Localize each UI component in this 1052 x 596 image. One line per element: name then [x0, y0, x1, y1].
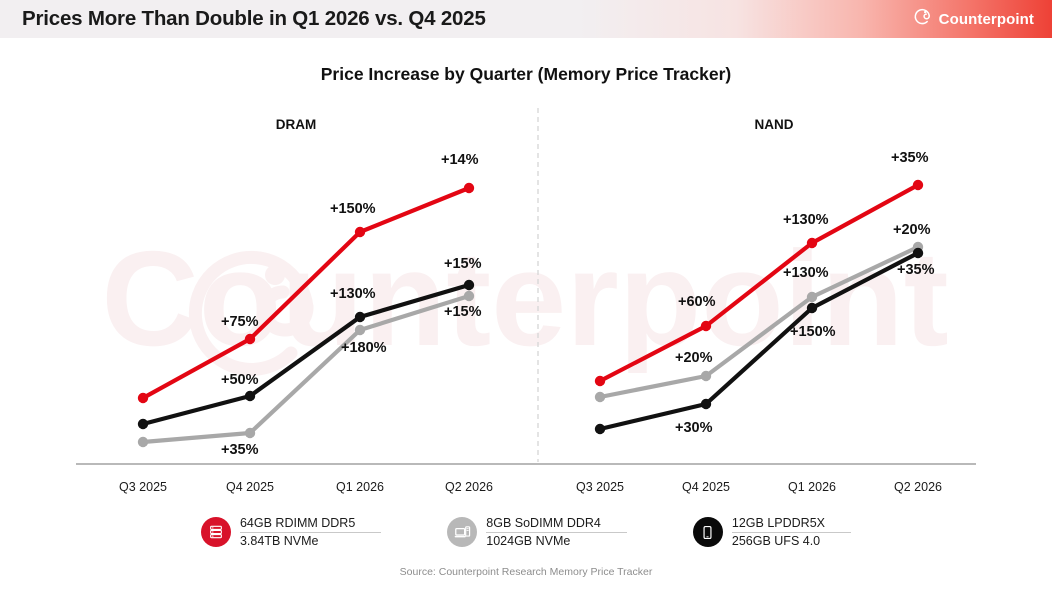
tick-dram-q1-2026: Q1 2026: [312, 480, 408, 494]
value-label-nand-black-q1: +150%: [790, 324, 836, 340]
legend-item-lpddr5x[interactable]: 12GB LPDDR5X 256GB UFS 4.0: [693, 515, 851, 549]
dram-series-black: [143, 285, 469, 424]
dram-markers-gray: [138, 291, 474, 447]
legend-label-sodimm: 8GB SoDIMM DDR4 1024GB NVMe: [486, 515, 627, 549]
tick-nand-q3-2025: Q3 2025: [552, 480, 648, 494]
legend-label-lpddr5x: 12GB LPDDR5X 256GB UFS 4.0: [732, 515, 851, 549]
page-title: Prices More Than Double in Q1 2026 vs. Q…: [22, 7, 486, 31]
value-label-dram-red-q1: +150%: [330, 201, 376, 217]
counterpoint-swirl-icon: [913, 7, 932, 31]
value-label-dram-red-q2: +14%: [441, 152, 479, 168]
value-label-nand-red-q4: +60%: [678, 294, 716, 310]
value-label-nand-gray-q2: +20%: [893, 222, 931, 238]
smartphone-icon: [693, 517, 723, 547]
tick-nand-q4-2025: Q4 2025: [658, 480, 754, 494]
value-label-nand-gray-q4: +20%: [675, 350, 713, 366]
value-label-nand-red-q2: +35%: [891, 150, 929, 166]
legend-line1-rdimm: 64GB RDIMM DDR5: [240, 515, 381, 533]
plot-lines: [0, 38, 1052, 596]
brand-name: Counterpoint: [939, 11, 1034, 28]
value-label-dram-gray-q4: +35%: [221, 442, 259, 458]
value-label-nand-black-q2: +35%: [897, 262, 935, 278]
laptop-monitor-icon: [447, 517, 477, 547]
legend: 64GB RDIMM DDR5 3.84TB NVMe 8GB SoDIMM D…: [0, 515, 1052, 549]
brand-logo: Counterpoint: [913, 7, 1040, 31]
legend-label-rdimm: 64GB RDIMM DDR5 3.84TB NVMe: [240, 515, 381, 549]
value-label-dram-black-q2: +15%: [444, 256, 482, 272]
legend-item-rdimm[interactable]: 64GB RDIMM DDR5 3.84TB NVMe: [201, 515, 381, 549]
value-label-dram-black-q1: +130%: [330, 286, 376, 302]
value-label-dram-gray-q1: +180%: [341, 340, 387, 356]
tick-nand-q1-2026: Q1 2026: [764, 480, 860, 494]
legend-line2-rdimm: 3.84TB NVMe: [240, 534, 319, 548]
legend-line2-sodimm: 1024GB NVMe: [486, 534, 570, 548]
value-label-nand-red-q1: +130%: [783, 212, 829, 228]
tick-dram-q2-2026: Q2 2026: [421, 480, 517, 494]
legend-line1-lpddr5x: 12GB LPDDR5X: [732, 515, 851, 533]
legend-line1-sodimm: 8GB SoDIMM DDR4: [486, 515, 627, 533]
header-bar: Prices More Than Double in Q1 2026 vs. Q…: [0, 0, 1052, 38]
value-label-nand-black-q4: +30%: [675, 420, 713, 436]
dram-series-red: [143, 188, 469, 398]
tick-nand-q2-2026: Q2 2026: [870, 480, 966, 494]
legend-item-sodimm[interactable]: 8GB SoDIMM DDR4 1024GB NVMe: [447, 515, 627, 549]
nand-series-black: [600, 253, 918, 429]
nand-series-red: [600, 185, 918, 381]
dram-markers-red: [138, 183, 474, 403]
value-label-dram-red-q4: +75%: [221, 314, 259, 330]
legend-line2-lpddr5x: 256GB UFS 4.0: [732, 534, 820, 548]
chart-area: Price Increase by Quarter (Memory Price …: [0, 38, 1052, 596]
tick-dram-q4-2025: Q4 2025: [202, 480, 298, 494]
value-label-dram-black-q4: +50%: [221, 372, 259, 388]
nand-series-gray: [600, 247, 918, 397]
tick-dram-q3-2025: Q3 2025: [95, 480, 191, 494]
source-note: Source: Counterpoint Research Memory Pri…: [0, 566, 1052, 578]
value-label-dram-gray-q2: +15%: [444, 304, 482, 320]
server-ram-icon: [201, 517, 231, 547]
value-label-nand-gray-q1: +130%: [783, 265, 829, 281]
